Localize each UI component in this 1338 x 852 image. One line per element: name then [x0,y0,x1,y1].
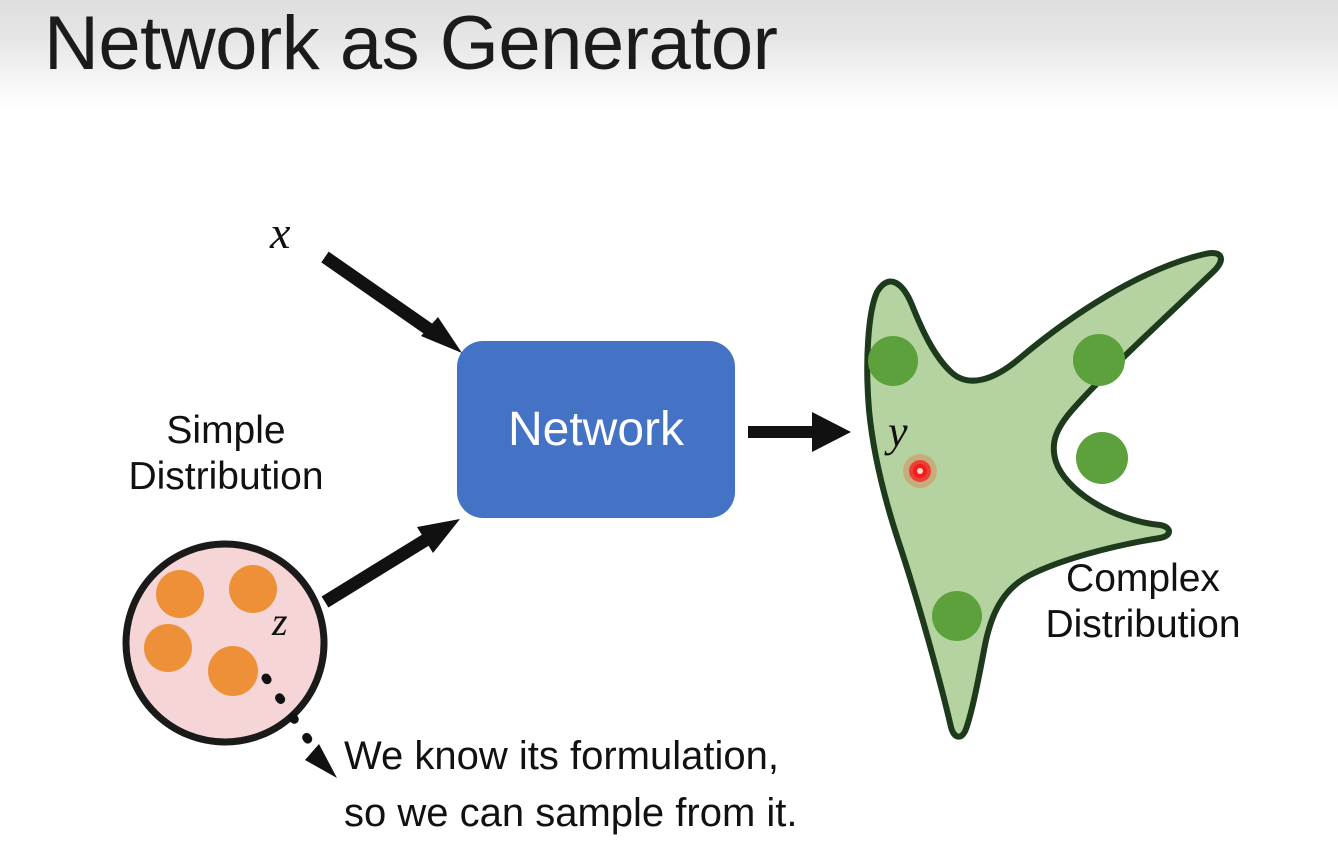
arrow-x-to-network [325,257,462,353]
input-variable-label: x [270,206,290,259]
simple-distribution-label-line1: Simple [110,408,342,454]
simple-distribution-label-line2: Distribution [110,454,342,500]
simple-distribution-shape [126,544,324,742]
latent-variable-label: z [272,598,288,645]
highlight-sample-dot [903,454,937,488]
complex-distribution-shape [867,253,1221,737]
sampling-caption-line2: so we can sample from it. [344,785,798,842]
sampling-caption-line1: We know its formulation, [344,728,798,785]
output-variable-label: y [888,406,908,457]
sample-dot [144,624,192,672]
sample-dot [156,570,204,618]
sample-dot [229,565,277,613]
complex-distribution-label-line2: Distribution [1014,602,1272,648]
sample-dot [208,646,258,696]
simple-distribution-label: Simple Distribution [110,408,342,500]
sampling-caption: We know its formulation, so we can sampl… [344,728,798,842]
sample-dot [1076,432,1128,484]
complex-distribution-label-line1: Complex [1014,556,1272,602]
arrow-z-to-network [325,519,460,602]
complex-distribution-label: Complex Distribution [1014,556,1272,648]
arrow-network-to-output [748,412,851,452]
sample-dot [868,336,918,386]
network-box-label: Network [457,341,735,518]
slide-canvas: Network as Generator [0,0,1338,852]
sample-dot [1073,334,1125,386]
sample-dot [932,591,982,641]
